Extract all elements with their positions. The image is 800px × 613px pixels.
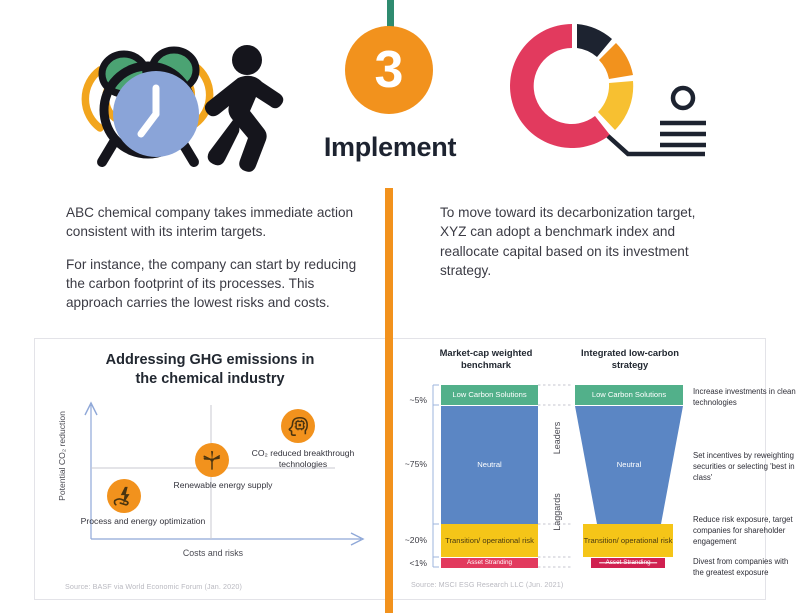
column-header-strategy-line2: strategy	[565, 359, 695, 371]
tick-1pct: <1%	[393, 558, 427, 568]
left-chart-title: Addressing GHG emissions in the chemical…	[35, 339, 385, 390]
head-chip-icon	[281, 409, 315, 443]
segment-asset-stranding-benchmark: Asset Stranding	[441, 558, 538, 568]
stacked-bar-chart: ~5% ~75% ~20% <1% Low Carbon Solutions N…	[393, 381, 767, 586]
laggards-label: Laggards	[552, 482, 562, 542]
segment-neutral-benchmark: Neutral	[441, 406, 538, 524]
step-number-badge: 3	[345, 26, 433, 114]
left-chart-title-line2: the chemical industry	[35, 370, 385, 389]
alarm-clock-running-person-icon	[62, 18, 292, 183]
leaders-label: Leaders	[552, 408, 562, 468]
vertical-divider	[385, 188, 393, 613]
annotation-set-incentives: Set incentives by reweighting securities…	[693, 451, 797, 483]
right-description: To move toward its decarbonization targe…	[440, 203, 700, 280]
step-title: Implement	[300, 132, 480, 163]
point-label-3: CO₂ reduced breakthrough technologies	[233, 448, 373, 470]
point-label-1: Process and energy optimization	[73, 516, 213, 527]
strikethrough-line	[599, 562, 657, 563]
tick-20pct: ~20%	[393, 535, 427, 545]
left-chart-title-line1: Addressing GHG emissions in	[35, 351, 385, 370]
x-axis-label: Costs and risks	[153, 548, 273, 558]
donut-chart-report-icon	[500, 8, 730, 183]
hand-bolt-icon	[107, 479, 141, 513]
header: 3 Implement	[0, 0, 800, 188]
segment-asset-stranding-strategy: Asset Stranding	[591, 558, 665, 568]
right-chart-source: Source: MSCI ESG Research LLC (Jun. 2021…	[411, 580, 563, 589]
point-label-2: Renewable energy supply	[163, 480, 283, 491]
segment-low-carbon-benchmark: Low Carbon Solutions	[441, 385, 538, 405]
segment-low-carbon-strategy: Low Carbon Solutions	[575, 385, 683, 405]
left-paragraph-1: ABC chemical company takes immediate act…	[66, 203, 366, 242]
tick-75pct: ~75%	[393, 459, 427, 469]
column-header-benchmark-line2: benchmark	[421, 359, 551, 371]
annotation-increase-investments: Increase investments in clean technologi…	[693, 387, 797, 409]
column-header-strategy-line1: Integrated low-carbon	[565, 347, 695, 359]
column-header-benchmark: Market-cap weighted benchmark	[421, 347, 551, 371]
left-chart-source: Source: BASF via World Economic Forum (J…	[65, 582, 242, 591]
wind-turbine-icon	[195, 443, 229, 477]
quadrant-chart: Potential CO₂ reduction Costs and risks …	[35, 391, 387, 581]
segment-neutral-strategy: Neutral	[575, 406, 683, 524]
left-description: ABC chemical company takes immediate act…	[66, 203, 366, 312]
tick-5pct: ~5%	[393, 395, 427, 405]
y-axis-label: Potential CO₂ reduction	[57, 401, 67, 511]
column-header-strategy: Integrated low-carbon strategy	[565, 347, 695, 371]
annotation-reduce-risk: Reduce risk exposure, target companies f…	[693, 515, 797, 547]
left-paragraph-2: For instance, the company can start by r…	[66, 255, 366, 313]
right-chart-panel: Market-cap weighted benchmark Integrated…	[392, 338, 766, 600]
step-number: 3	[375, 44, 404, 96]
annotation-divest: Divest from companies with the greatest …	[693, 557, 797, 579]
segment-transition-strategy: Transition/ operational risk	[583, 524, 673, 557]
left-chart-panel: Addressing GHG emissions in the chemical…	[34, 338, 386, 600]
right-paragraph-1: To move toward its decarbonization targe…	[440, 203, 700, 280]
column-header-benchmark-line1: Market-cap weighted	[421, 347, 551, 359]
segment-transition-benchmark: Transition/ operational risk	[441, 524, 538, 557]
